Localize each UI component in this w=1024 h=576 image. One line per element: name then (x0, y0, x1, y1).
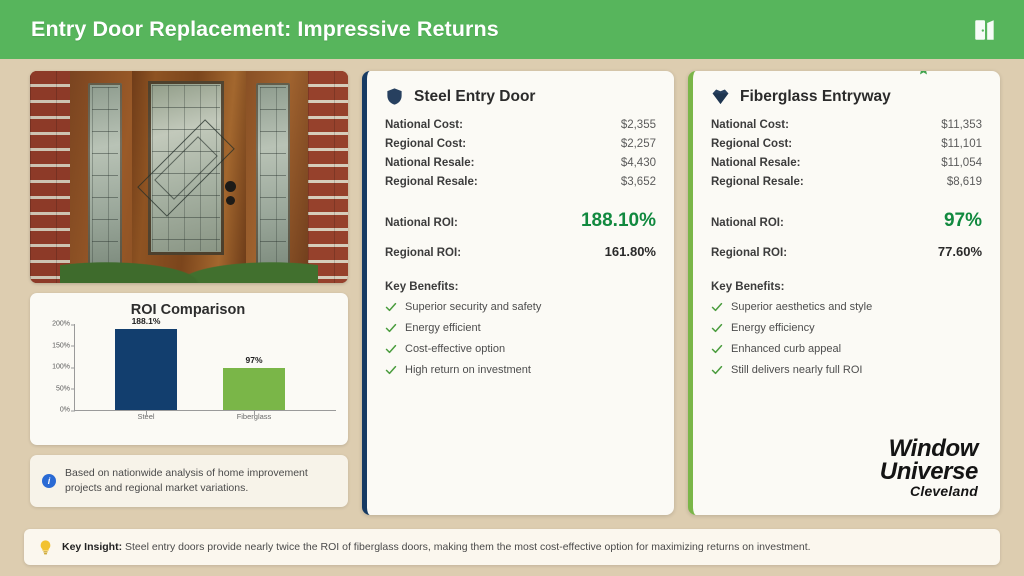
y-tick-150: 150% (52, 342, 70, 349)
check-icon (711, 301, 723, 313)
shield-icon (385, 87, 404, 106)
stat-label: National Cost: (711, 119, 789, 131)
benefit-item: Energy efficiency (711, 322, 982, 334)
benefit-item: Superior security and safety (385, 301, 656, 313)
chart-plot-area: 200% 150% 100% 50% 0% 188.1% (40, 324, 336, 432)
entry-door-photo (30, 71, 348, 283)
header-bar: Entry Door Replacement: Impressive Retur… (0, 0, 1024, 59)
check-icon (711, 322, 723, 334)
door-handle (225, 181, 236, 192)
benefit-text: Still delivers nearly full ROI (731, 364, 862, 376)
benefits-title: Key Benefits: (385, 281, 656, 293)
benefit-text: Superior aesthetics and style (731, 301, 872, 313)
national-roi-value: 188.10% (581, 210, 656, 232)
benefit-item: High return on investment (385, 364, 656, 376)
bar-steel (115, 329, 177, 410)
stat-label: Regional Cost: (385, 138, 466, 150)
benefit-item: Cost-effective option (385, 343, 656, 355)
regional-roi-value: 161.80% (605, 244, 656, 259)
check-icon (711, 364, 723, 376)
benefit-text: Cost-effective option (405, 343, 505, 355)
national-roi-row: National ROI: 188.10% (385, 210, 656, 232)
stat-row: Regional Resale: $3,652 (385, 176, 656, 188)
regional-roi-row: Regional ROI: 77.60% (711, 244, 982, 259)
stat-value: $4,430 (621, 157, 656, 169)
stat-label: National Resale: (711, 157, 800, 169)
stat-label: National Cost: (385, 119, 463, 131)
card-title-steel: Steel Entry Door (414, 88, 535, 106)
national-roi-label: National ROI: (711, 217, 784, 229)
key-insight-label: Key Insight: (62, 541, 122, 553)
door-glass (148, 81, 224, 255)
slide-root: Entry Door Replacement: Impressive Retur… (0, 0, 1024, 576)
national-roi-row: National ROI: 97% (711, 210, 982, 232)
benefit-item: Enhanced curb appeal (711, 343, 982, 355)
check-icon (385, 364, 397, 376)
photo-canvas (30, 71, 348, 283)
product-card-steel: Steel Entry Door National Cost: $2,355 R… (362, 71, 674, 515)
stat-label: Regional Cost: (711, 138, 792, 150)
logo-line-universe: Universe (711, 460, 978, 483)
left-column: ROI Comparison 200% 150% 100% 50% 0% (30, 71, 348, 527)
regional-roi-label: Regional ROI: (385, 247, 461, 259)
product-card-fiberglass: Fiberglass Entryway National Cost: $11,3… (688, 71, 1000, 515)
shrubs (60, 235, 318, 283)
y-tick-200: 200% (52, 321, 70, 328)
regional-roi-value: 77.60% (938, 244, 982, 259)
y-tick-100: 100% (52, 364, 70, 371)
benefit-text: Energy efficient (405, 322, 481, 334)
key-insight-bar: Key Insight: Steel entry doors provide n… (24, 529, 1000, 565)
middle-column: Steel Entry Door National Cost: $2,355 R… (362, 71, 674, 527)
y-tick-0: 0% (60, 407, 70, 414)
stat-value: $11,353 (941, 119, 982, 131)
stat-row: National Cost: $11,353 (711, 119, 982, 131)
stat-value: $11,101 (941, 138, 982, 150)
x-axis-labels: Steel Fiberglass (75, 412, 336, 428)
stat-label: National Resale: (385, 157, 474, 169)
stat-value: $3,652 (621, 176, 656, 188)
regional-roi-row: Regional ROI: 161.80% (385, 244, 656, 259)
stat-row: Regional Resale: $8,619 (711, 176, 982, 188)
stat-label: Regional Resale: (711, 176, 804, 188)
bar-label-fiberglass: 97% (223, 355, 285, 365)
benefit-item: Energy efficient (385, 322, 656, 334)
y-axis: 200% 150% 100% 50% 0% (40, 324, 74, 410)
stat-value: $8,619 (947, 176, 982, 188)
key-insight-body: Steel entry doors provide nearly twice t… (122, 541, 810, 553)
logo-line-window: Window (711, 437, 978, 460)
card-header-steel: Steel Entry Door (385, 87, 656, 106)
benefit-text: Energy efficiency (731, 322, 815, 334)
check-icon (385, 301, 397, 313)
content-columns: ROI Comparison 200% 150% 100% 50% 0% (0, 59, 1024, 527)
benefit-item: Superior aesthetics and style (711, 301, 982, 313)
check-icon (385, 322, 397, 334)
page-title: Entry Door Replacement: Impressive Retur… (31, 17, 499, 42)
stat-value: $11,054 (941, 157, 982, 169)
y-tick-50: 50% (56, 385, 70, 392)
note-text: Based on nationwide analysis of home imp… (65, 466, 336, 496)
card-header-fiberglass: Fiberglass Entryway (711, 87, 982, 106)
check-icon (711, 343, 723, 355)
card-title-fiberglass: Fiberglass Entryway (740, 88, 891, 106)
bar-label-steel: 188.1% (115, 316, 177, 326)
right-column: Fiberglass Entryway National Cost: $11,3… (688, 71, 1000, 527)
benefits-title: Key Benefits: (711, 281, 982, 293)
stat-row: Regional Cost: $11,101 (711, 138, 982, 150)
check-icon (385, 343, 397, 355)
bars-container: 188.1% 97% (75, 324, 336, 410)
key-insight-text: Key Insight: Steel entry doors provide n… (62, 541, 811, 553)
benefit-item: Still delivers nearly full ROI (711, 364, 982, 376)
benefit-text: Enhanced curb appeal (731, 343, 841, 355)
stat-row: National Resale: $4,430 (385, 157, 656, 169)
stat-value: $2,257 (621, 138, 656, 150)
star-icon (917, 71, 930, 76)
x-axis-line (74, 410, 336, 411)
door-icon (972, 17, 998, 43)
logo-line-city: Cleveland (910, 483, 978, 499)
national-roi-label: National ROI: (385, 217, 458, 229)
x-label-fiberglass: Fiberglass (223, 412, 285, 421)
x-label-steel: Steel (115, 412, 177, 421)
lightbulb-icon (38, 539, 53, 556)
methodology-note: i Based on nationwide analysis of home i… (30, 455, 348, 507)
stat-row: Regional Cost: $2,257 (385, 138, 656, 150)
stat-row: National Cost: $2,355 (385, 119, 656, 131)
brand-logo: Window Universe Cleveland (711, 437, 982, 505)
benefit-text: Superior security and safety (405, 301, 541, 313)
regional-roi-label: Regional ROI: (711, 247, 787, 259)
benefit-text: High return on investment (405, 364, 531, 376)
roi-comparison-chart: ROI Comparison 200% 150% 100% 50% 0% (30, 293, 348, 445)
gem-icon (711, 87, 730, 106)
chart-title: ROI Comparison (40, 302, 336, 318)
info-icon: i (42, 474, 56, 488)
stat-label: Regional Resale: (385, 176, 478, 188)
bar-fiberglass (223, 368, 285, 410)
national-roi-value: 97% (944, 210, 982, 232)
stat-row: National Resale: $11,054 (711, 157, 982, 169)
stat-value: $2,355 (621, 119, 656, 131)
